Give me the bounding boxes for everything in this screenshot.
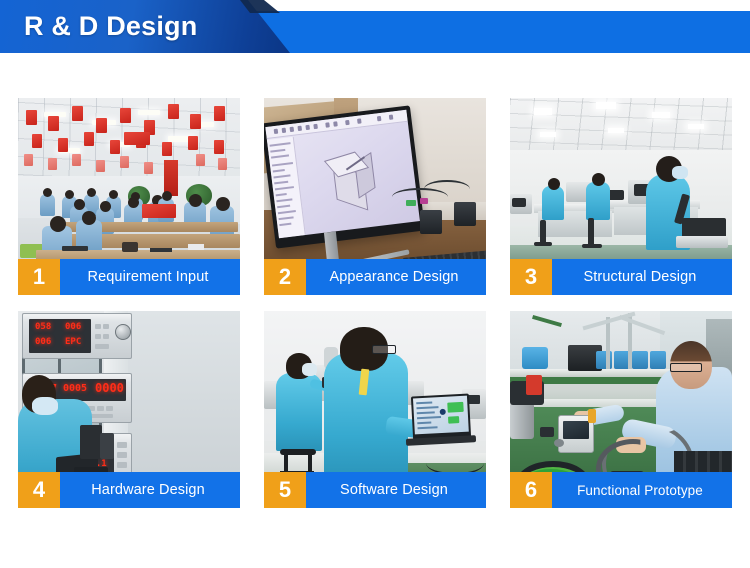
step-label-4: Hardware Design <box>60 472 240 508</box>
step-card-5[interactable]: 5 Software Design <box>264 311 486 508</box>
step-label-bar-3: 3 Structural Design <box>510 259 732 295</box>
step-card-6[interactable]: 6 Functional Prototype <box>510 311 732 508</box>
step-card-4[interactable]: 058 006 006 EPC 1017 0005 0000 <box>18 311 240 508</box>
step-label-bar-2: 2 Appearance Design <box>264 259 486 295</box>
step-label-bar-1: 1 Requirement Input <box>18 259 240 295</box>
step-number-5: 5 <box>264 472 306 508</box>
step-label-3: Structural Design <box>552 259 732 295</box>
step-card-1[interactable]: 1 Requirement Input <box>18 98 240 295</box>
rd-design-infographic: R & D Design <box>0 0 750 568</box>
header-light-bar <box>250 11 750 53</box>
step-label-bar-6: 6 Functional Prototype <box>510 472 732 508</box>
step-number-2: 2 <box>264 259 306 295</box>
step-label-bar-4: 4 Hardware Design <box>18 472 240 508</box>
step-number-4: 4 <box>18 472 60 508</box>
step-label-6: Functional Prototype <box>552 472 732 508</box>
monitor <box>264 105 425 248</box>
step-number-3: 3 <box>510 259 552 295</box>
steps-grid: 1 Requirement Input <box>18 98 732 508</box>
step-label-bar-5: 5 Software Design <box>264 472 486 508</box>
step-label-1: Requirement Input <box>60 259 240 295</box>
step-number-1: 1 <box>18 259 60 295</box>
page-title: R & D Design <box>24 7 197 45</box>
step-card-3[interactable]: 3 Structural Design <box>510 98 732 295</box>
step-number-6: 6 <box>510 472 552 508</box>
step-label-5: Software Design <box>306 472 486 508</box>
step-card-2[interactable]: 2 Appearance Design <box>264 98 486 295</box>
step-label-2: Appearance Design <box>306 259 486 295</box>
header-banner: R & D Design <box>0 0 750 53</box>
